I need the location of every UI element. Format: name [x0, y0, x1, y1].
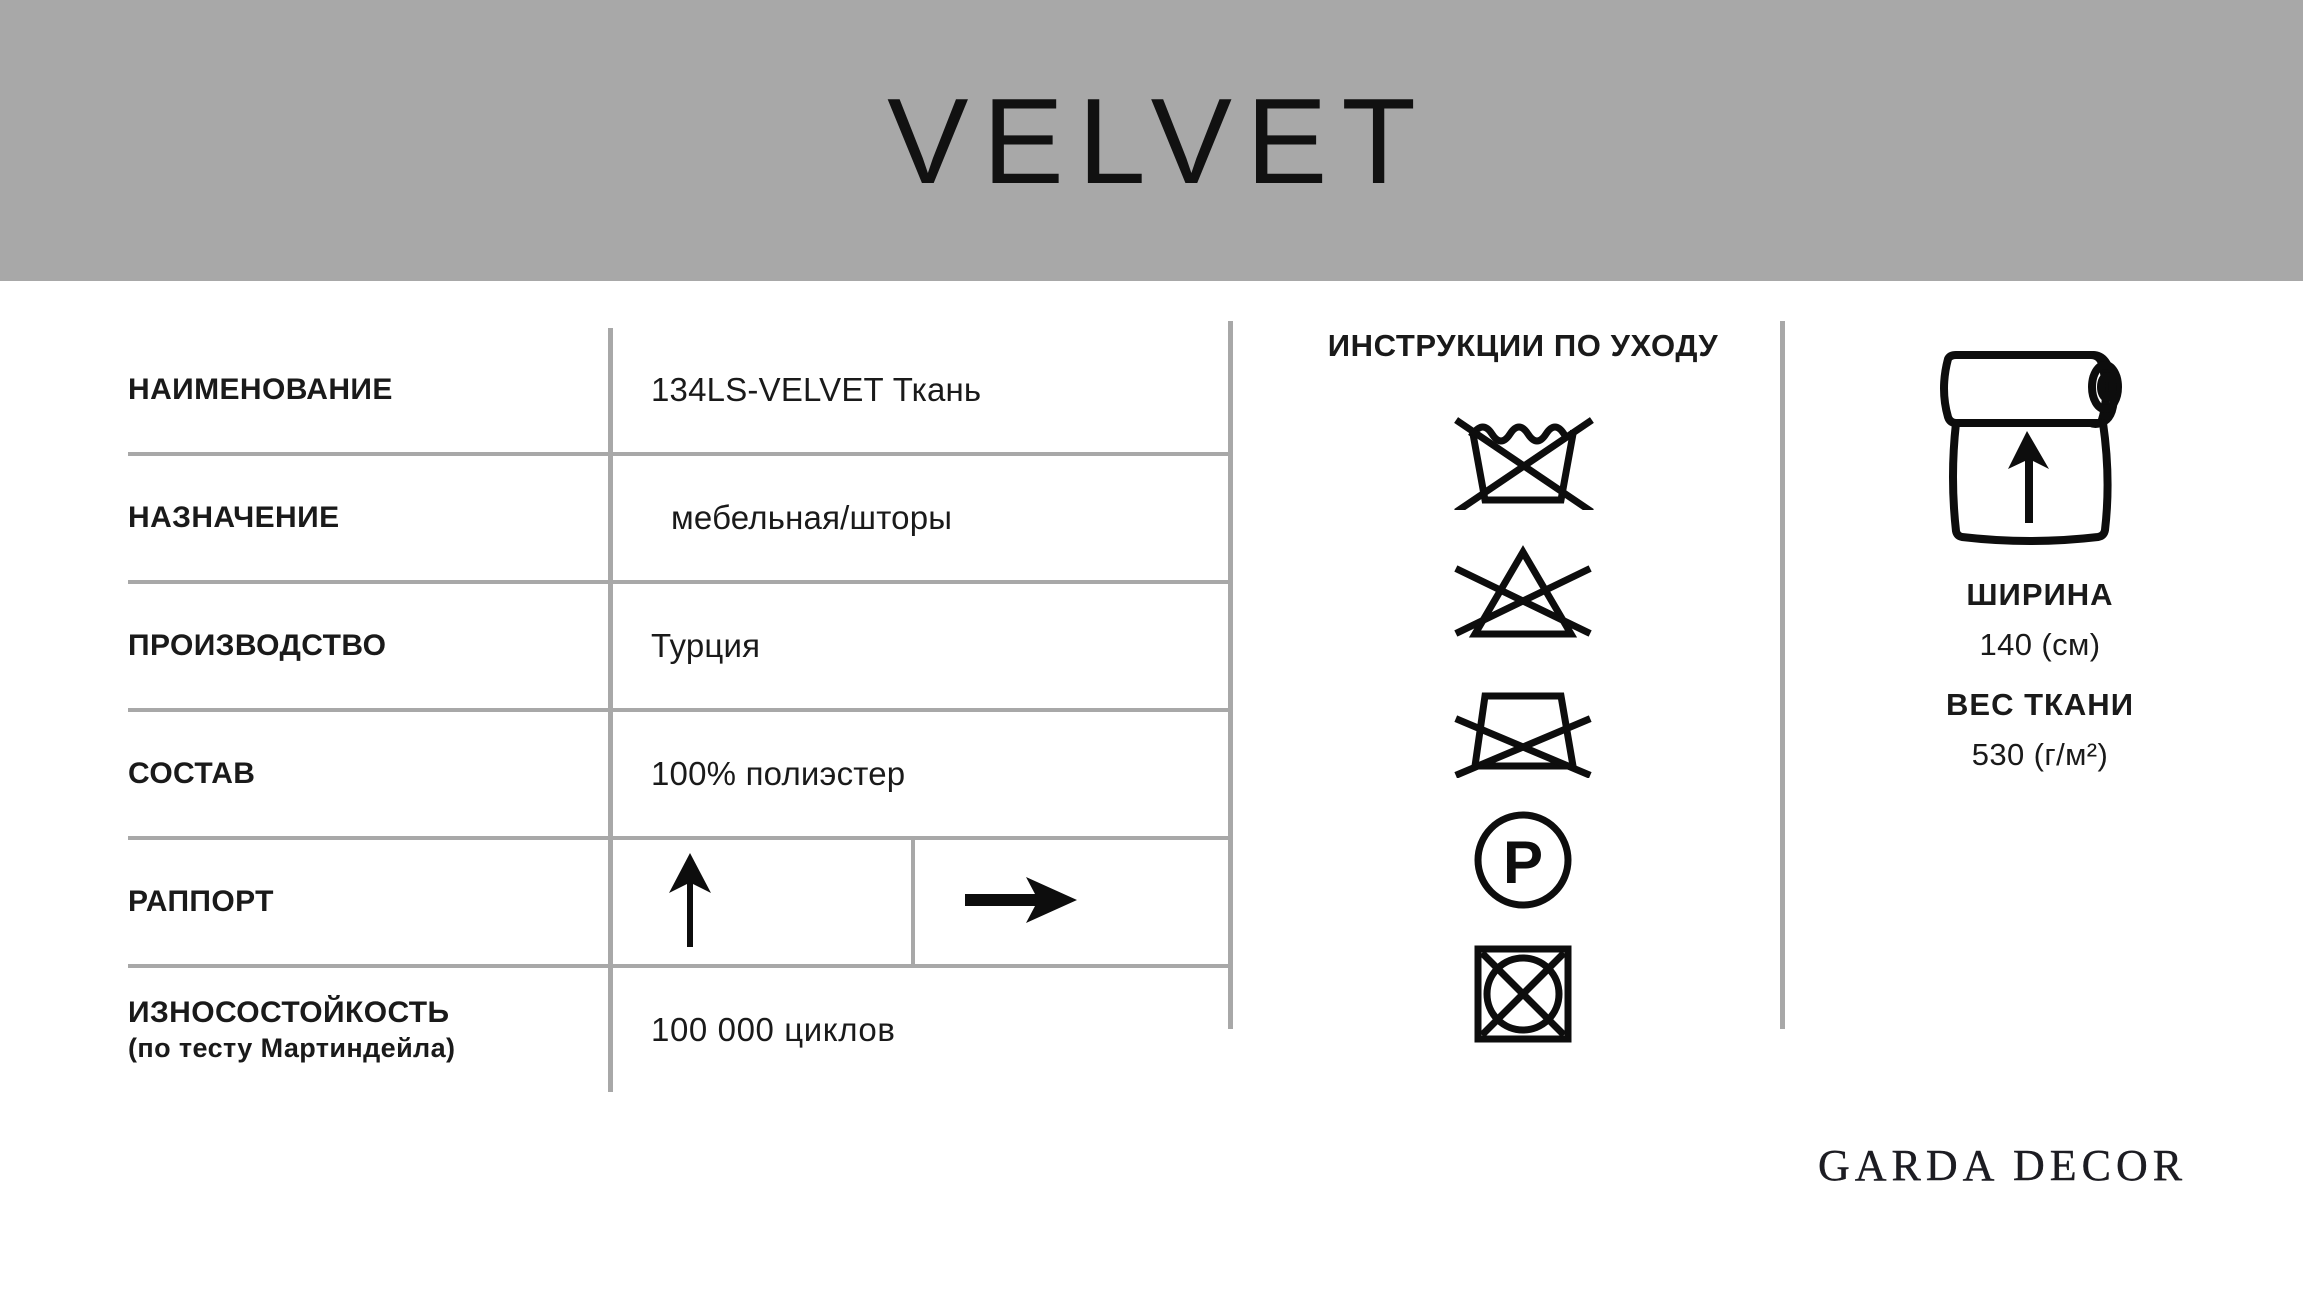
- spec-label: НАИМЕНОВАНИЕ: [128, 328, 608, 452]
- spec-value-text: 134LS-VELVET Ткань: [613, 371, 981, 409]
- spec-label-text: СОСТАВ: [128, 756, 594, 793]
- do-not-iron-icon: [1448, 670, 1598, 782]
- spec-value-cell: мебельная/шторы: [608, 456, 1228, 580]
- spec-label-text: РАППОРТ: [128, 884, 594, 921]
- spec-label: РАППОРТ: [128, 840, 608, 964]
- table-row: СОСТАВ 100% полиэстер: [128, 712, 1228, 840]
- spec-label: НАЗНАЧЕНИЕ: [128, 456, 608, 580]
- width-value: 140 (см): [1980, 627, 2101, 663]
- professional-dry-clean-p-icon: P: [1448, 804, 1598, 916]
- spec-value-text: мебельная/шторы: [613, 499, 952, 537]
- spec-label-text: ПРОИЗВОДСТВО: [128, 628, 594, 665]
- arrow-up-icon: [663, 851, 717, 954]
- table-row: ИЗНОСОСТОЙКОСТЬ (по тесту Мартиндейла) 1…: [128, 968, 1228, 1092]
- table-row: НАЗНАЧЕНИЕ мебельная/шторы: [128, 456, 1228, 584]
- table-row: РАППОРТ: [128, 840, 1228, 968]
- table-row: ПРОИЗВОДСТВО Турция: [128, 584, 1228, 712]
- svg-text:P: P: [1503, 829, 1543, 896]
- rapport-cells: [608, 840, 1228, 964]
- page-title: VELVET: [873, 80, 1430, 202]
- spec-value-cell: 134LS-VELVET Ткань: [608, 328, 1228, 452]
- width-label: ШИРИНА: [1966, 577, 2113, 613]
- rapport-vertical-cell: [613, 840, 915, 964]
- spec-value-text: Турция: [613, 627, 760, 665]
- care-instructions-title: ИНСТРУКЦИИ ПО УХОДУ: [1328, 328, 1719, 364]
- spec-label-text: НАЗНАЧЕНИЕ: [128, 500, 594, 537]
- spec-sub-label-text: (по тесту Мартиндейла): [128, 1032, 594, 1065]
- care-symbol-list: P: [1448, 402, 1598, 1050]
- specifications-table: НАИМЕНОВАНИЕ 134LS-VELVET Ткань НАЗНАЧЕН…: [128, 328, 1228, 1092]
- spec-label: ИЗНОСОСТОЙКОСТЬ (по тесту Мартиндейла): [128, 968, 608, 1092]
- rapport-horizontal-cell: [915, 840, 1228, 964]
- spec-label-text: НАИМЕНОВАНИЕ: [128, 372, 594, 409]
- brand-logo: GARDA DECOR: [1818, 1140, 2187, 1191]
- weight-value: 530 (г/м²): [1972, 737, 2109, 773]
- spec-value-text: 100 000 циклов: [613, 1011, 896, 1049]
- spec-label: ПРОИЗВОДСТВО: [128, 584, 608, 708]
- do-not-wash-icon: [1448, 402, 1598, 514]
- weight-label: ВЕС ТКАНИ: [1946, 687, 2134, 723]
- dimensions-section: ШИРИНА 140 (см) ВЕС ТКАНИ 530 (г/м²): [1830, 321, 2250, 773]
- spec-value-cell: 100 000 циклов: [608, 968, 1228, 1092]
- do-not-bleach-icon: [1448, 536, 1598, 648]
- header-banner: VELVET: [0, 0, 2303, 281]
- table-right-divider: [1228, 321, 1233, 1029]
- table-row: НАИМЕНОВАНИЕ 134LS-VELVET Ткань: [128, 328, 1228, 456]
- spec-value-cell: Турция: [608, 584, 1228, 708]
- spec-value-text: 100% полиэстер: [613, 755, 905, 793]
- do-not-tumble-dry-icon: [1448, 938, 1598, 1050]
- care-right-divider: [1780, 321, 1785, 1029]
- fabric-roll-icon: [1915, 321, 2165, 571]
- spec-value-cell: 100% полиэстер: [608, 712, 1228, 836]
- spec-label-text: ИЗНОСОСТОЙКОСТЬ: [128, 995, 594, 1032]
- care-instructions-section: ИНСТРУКЦИИ ПО УХОДУ: [1283, 328, 1763, 1050]
- arrow-right-icon: [963, 873, 1079, 932]
- spec-label: СОСТАВ: [128, 712, 608, 836]
